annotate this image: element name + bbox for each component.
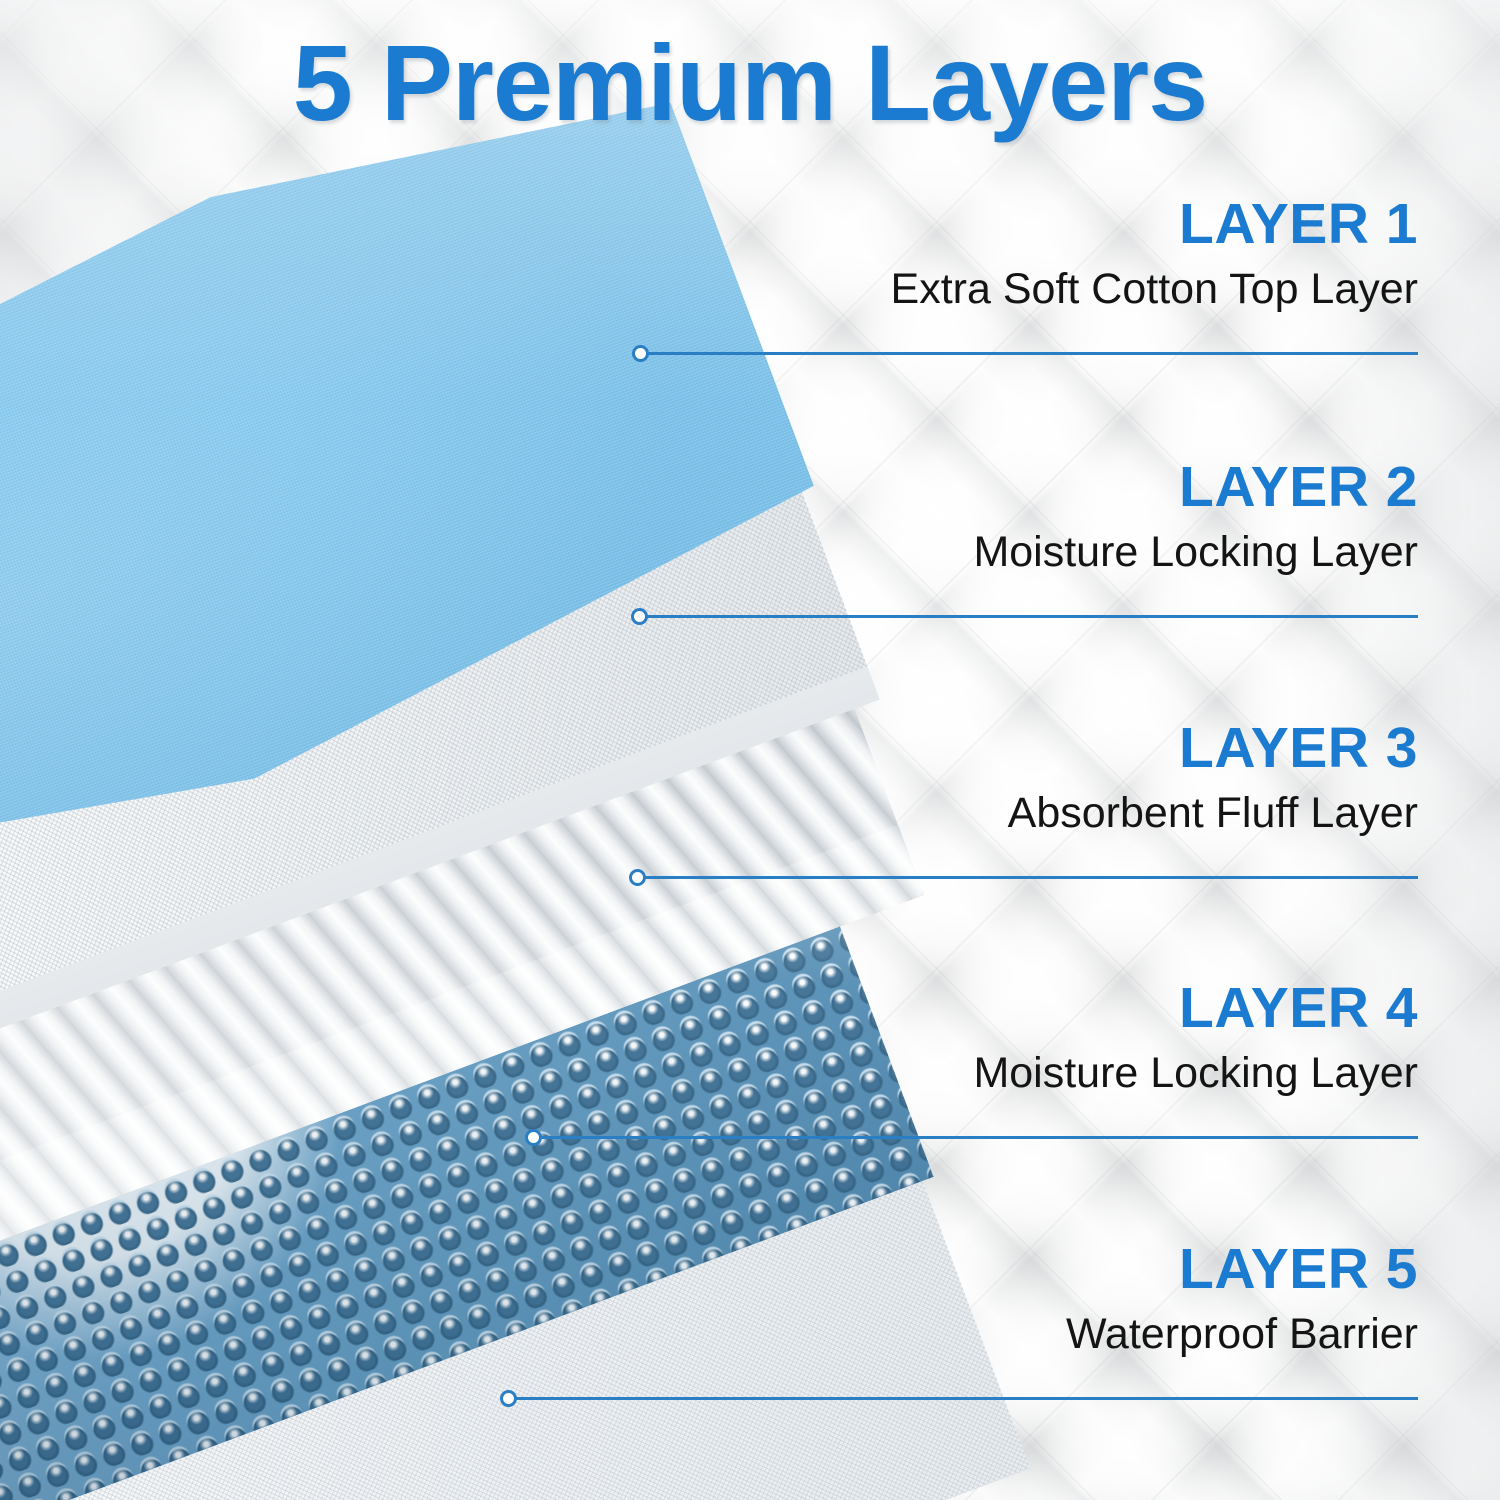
layer-number-label-1: LAYER 1 (618, 196, 1418, 253)
layer-description-1: Extra Soft Cotton Top Layer (618, 267, 1418, 312)
layer-description-4: Moisture Locking Layer (618, 1051, 1418, 1096)
layer-number-label-4: LAYER 4 (618, 980, 1418, 1037)
layer-leader-line-1 (646, 352, 1418, 355)
layer-leader-line-3 (643, 876, 1418, 879)
layer-description-5: Waterproof Barrier (618, 1312, 1418, 1357)
layer-number-label-2: LAYER 2 (618, 459, 1418, 516)
layer-leader-line-4 (539, 1136, 1418, 1139)
layer-marker-dot-1 (632, 345, 649, 362)
layer-marker-dot-3 (629, 869, 646, 886)
layer-callout-3: LAYER 3Absorbent Fluff Layer (618, 720, 1418, 836)
layer-marker-dot-5 (500, 1390, 517, 1407)
page-title: 5 Premium Layers (0, 26, 1500, 139)
layer-number-label-3: LAYER 3 (618, 720, 1418, 777)
layer-description-2: Moisture Locking Layer (618, 530, 1418, 575)
layer-leader-line-2 (645, 615, 1418, 618)
layer-callout-5: LAYER 5Waterproof Barrier (618, 1241, 1418, 1357)
layer-callout-2: LAYER 2Moisture Locking Layer (618, 459, 1418, 575)
infographic-canvas: 5 Premium Layers LAYER 1Extra Soft Cotto… (0, 0, 1500, 1500)
layer-callout-1: LAYER 1Extra Soft Cotton Top Layer (618, 196, 1418, 312)
layer-description-3: Absorbent Fluff Layer (618, 791, 1418, 836)
layer-marker-dot-4 (525, 1129, 542, 1146)
layer-callout-4: LAYER 4Moisture Locking Layer (618, 980, 1418, 1096)
layer-leader-line-5 (514, 1397, 1418, 1400)
layer-marker-dot-2 (631, 608, 648, 625)
layer-number-label-5: LAYER 5 (618, 1241, 1418, 1298)
